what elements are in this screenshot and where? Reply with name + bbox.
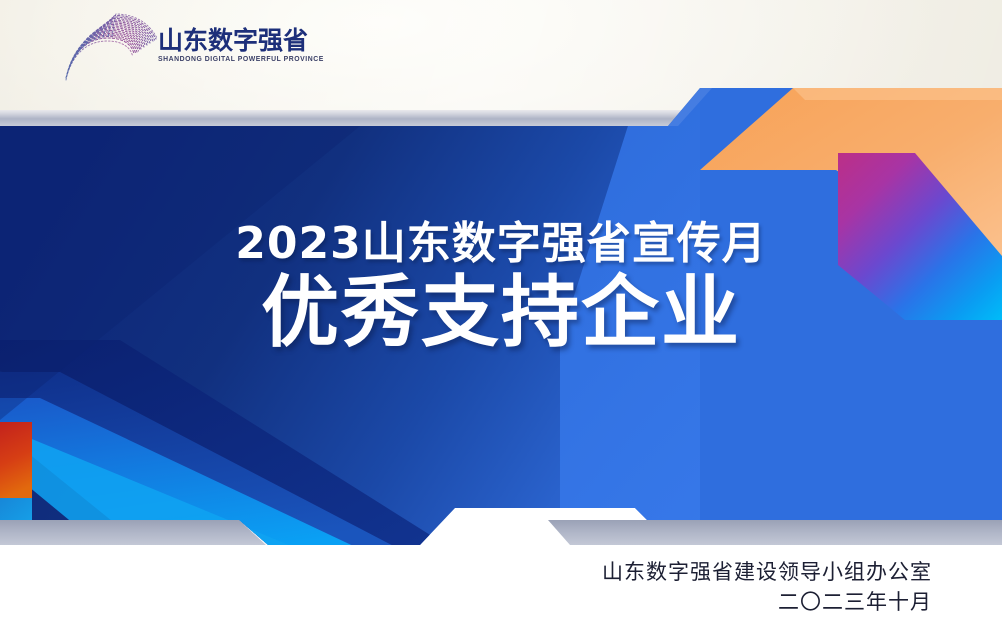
footer: 山东数字强省建设领导小组办公室 二〇二三年十月: [602, 558, 932, 618]
issuing-organization: 山东数字强省建设领导小组办公室: [602, 558, 932, 588]
poster-canvas: 山东数字强省 SHANDONG DIGITAL POWERFUL PROVINC…: [0, 0, 1002, 621]
decorative-blue-panel: [0, 0, 1002, 621]
issue-date: 二〇二三年十月: [602, 588, 932, 618]
